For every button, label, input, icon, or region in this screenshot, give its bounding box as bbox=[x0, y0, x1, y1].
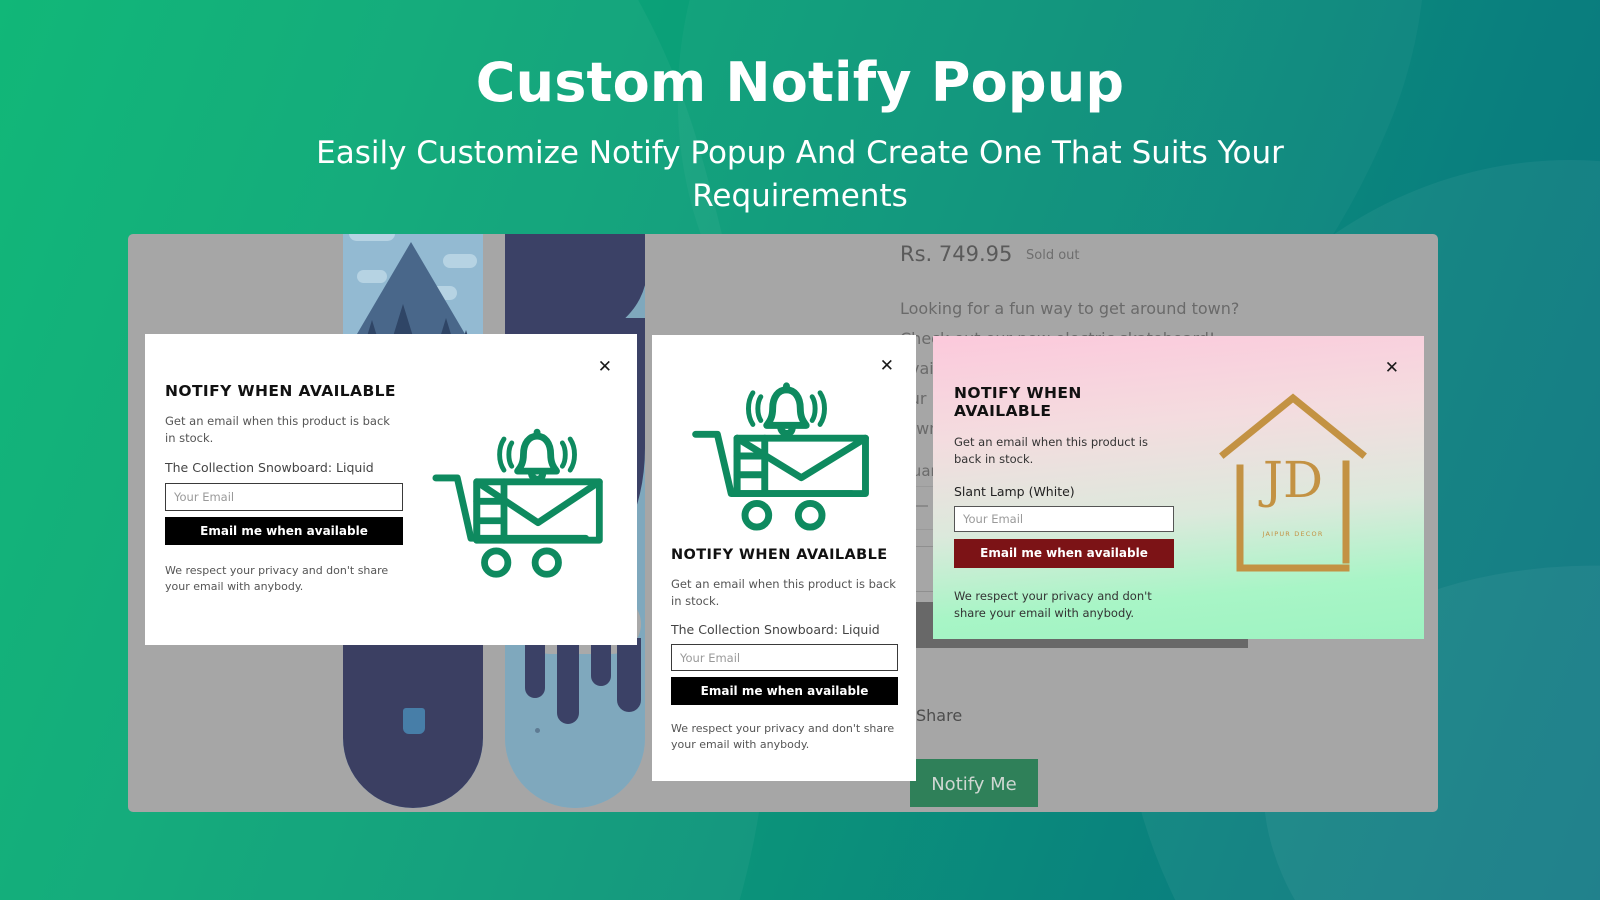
product-description-line-1: Looking for a fun way to get around town… bbox=[900, 299, 1239, 318]
popup2-title: NOTIFY WHEN AVAILABLE bbox=[671, 547, 898, 563]
cart-bell-envelope-icon bbox=[682, 377, 887, 535]
popup1-variant-name: The Collection Snowboard: Liquid bbox=[165, 460, 403, 475]
jaipur-decor-house-logo: JD JAIPUR DECOR bbox=[1218, 392, 1368, 577]
notify-popup-variant-1: ✕ NOTIFY WHEN AVAILABLE Get an email whe… bbox=[145, 334, 637, 645]
popup1-email-input[interactable] bbox=[165, 483, 403, 511]
popup2-submit-button[interactable]: Email me when available bbox=[671, 677, 898, 705]
notify-popup-variant-2: ✕ bbox=[652, 335, 916, 781]
page-title: Custom Notify Popup bbox=[0, 52, 1600, 114]
popup1-submit-button[interactable]: Email me when available bbox=[165, 517, 403, 545]
popup3-submit-button[interactable]: Email me when available bbox=[954, 539, 1174, 568]
popup2-email-input[interactable] bbox=[671, 644, 898, 671]
cart-bell-envelope-icon bbox=[424, 404, 619, 584]
logo-caption: JAIPUR DECOR bbox=[1218, 530, 1368, 538]
page-subtitle: Easily Customize Notify Popup And Create… bbox=[300, 132, 1300, 218]
close-icon[interactable]: ✕ bbox=[598, 359, 612, 376]
close-icon[interactable]: ✕ bbox=[1385, 360, 1399, 377]
popup1-privacy-note: We respect your privacy and don't share … bbox=[165, 563, 403, 595]
popup2-subtitle: Get an email when this product is back i… bbox=[671, 576, 898, 609]
popup3-title: NOTIFY WHEN AVAILABLE bbox=[954, 384, 1174, 420]
minus-icon[interactable] bbox=[914, 505, 928, 507]
popup3-subtitle: Get an email when this product is back i… bbox=[954, 434, 1174, 469]
popup1-subtitle: Get an email when this product is back i… bbox=[165, 413, 403, 446]
popup3-email-input[interactable] bbox=[954, 506, 1174, 532]
notify-popup-variant-3: ✕ NOTIFY WHEN AVAILABLE Get an email whe… bbox=[933, 336, 1424, 639]
notify-me-label: Notify Me bbox=[910, 774, 1038, 795]
popup3-variant-name: Slant Lamp (White) bbox=[954, 484, 1174, 499]
logo-monogram: JD bbox=[1258, 451, 1323, 509]
popup1-title: NOTIFY WHEN AVAILABLE bbox=[165, 382, 403, 400]
share-button[interactable]: Share bbox=[916, 706, 962, 725]
status-badge: Sold out bbox=[1026, 248, 1080, 263]
popup2-privacy-note: We respect your privacy and don't share … bbox=[671, 721, 898, 753]
close-icon[interactable]: ✕ bbox=[880, 358, 894, 375]
popup3-privacy-note: We respect your privacy and don't share … bbox=[954, 588, 1174, 623]
popup2-variant-name: The Collection Snowboard: Liquid bbox=[671, 622, 898, 637]
page-background: Custom Notify Popup Easily Customize Not… bbox=[0, 0, 1600, 900]
product-price: Rs. 749.95 bbox=[900, 242, 1012, 266]
